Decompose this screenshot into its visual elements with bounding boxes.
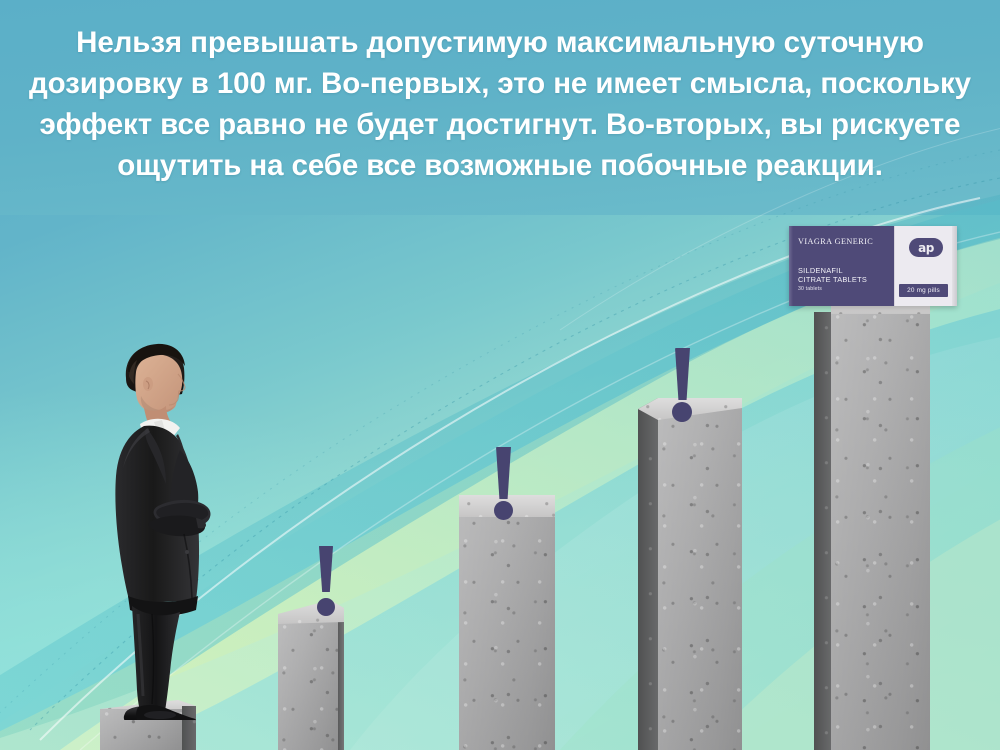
pillar-4-front-face (831, 312, 930, 750)
promo-banner: Нельзя превышать допустимую максимальную… (0, 0, 1000, 750)
headline-line-2: дозировку в 100 мг. Во-первых, это не им… (22, 63, 978, 104)
product-substance-line-1: SILDENAFIL (798, 266, 843, 275)
headline-line-4: ощутить на себе все возможные побочные р… (22, 145, 978, 186)
pillar-2 (459, 495, 555, 750)
pillar-1-right-face (338, 622, 344, 750)
pillar-4-top-face (831, 305, 930, 314)
ap-logo-text: ap (918, 242, 934, 254)
exclamation-bar-1 (318, 546, 334, 592)
ap-logo-icon: ap (909, 238, 943, 257)
pillar-4-left-face (814, 312, 831, 750)
exclamation-bar-2 (495, 447, 512, 499)
headline-line-3: эффект все равно не будет достигнут. Во-… (22, 104, 978, 145)
product-tablet-count: 30 tablets (798, 286, 822, 292)
pillar-4 (814, 312, 930, 750)
exclamation-icon-3 (674, 348, 691, 400)
product-substance-line-2: CITRATE TABLETS (798, 275, 867, 284)
pillar-3-front-face (658, 398, 742, 750)
product-substance: SILDENAFIL CITRATE TABLETS (798, 266, 867, 284)
headline: Нельзя превышать допустимую максимальную… (0, 22, 1000, 186)
businessman-figure (92, 338, 228, 720)
product-brand-name: VIAGRA GENERIC (798, 237, 885, 246)
product-box[interactable]: VIAGRA GENERIC SILDENAFIL CITRATE TABLET… (789, 226, 957, 306)
headline-line-1: Нельзя превышать допустимую максимальную… (22, 22, 978, 63)
pillar-3-left-face (638, 398, 658, 750)
product-box-side-panel: ap 20 mg pills (894, 226, 957, 306)
exclamation-dot-2 (494, 501, 513, 520)
exclamation-bar-3 (674, 348, 691, 400)
exclamation-dot-1 (317, 598, 335, 616)
pillar-3 (638, 398, 742, 750)
pillar-1 (278, 600, 344, 750)
pillar-1-front-face (278, 622, 338, 750)
exclamation-icon-2 (495, 447, 512, 499)
product-box-front-panel: VIAGRA GENERIC SILDENAFIL CITRATE TABLET… (789, 226, 894, 306)
pillar-2-front-face (459, 495, 555, 750)
exclamation-icon-1 (318, 546, 334, 592)
product-dosage-label: 20 mg pills (899, 284, 948, 297)
exclamation-dot-3 (672, 402, 692, 422)
